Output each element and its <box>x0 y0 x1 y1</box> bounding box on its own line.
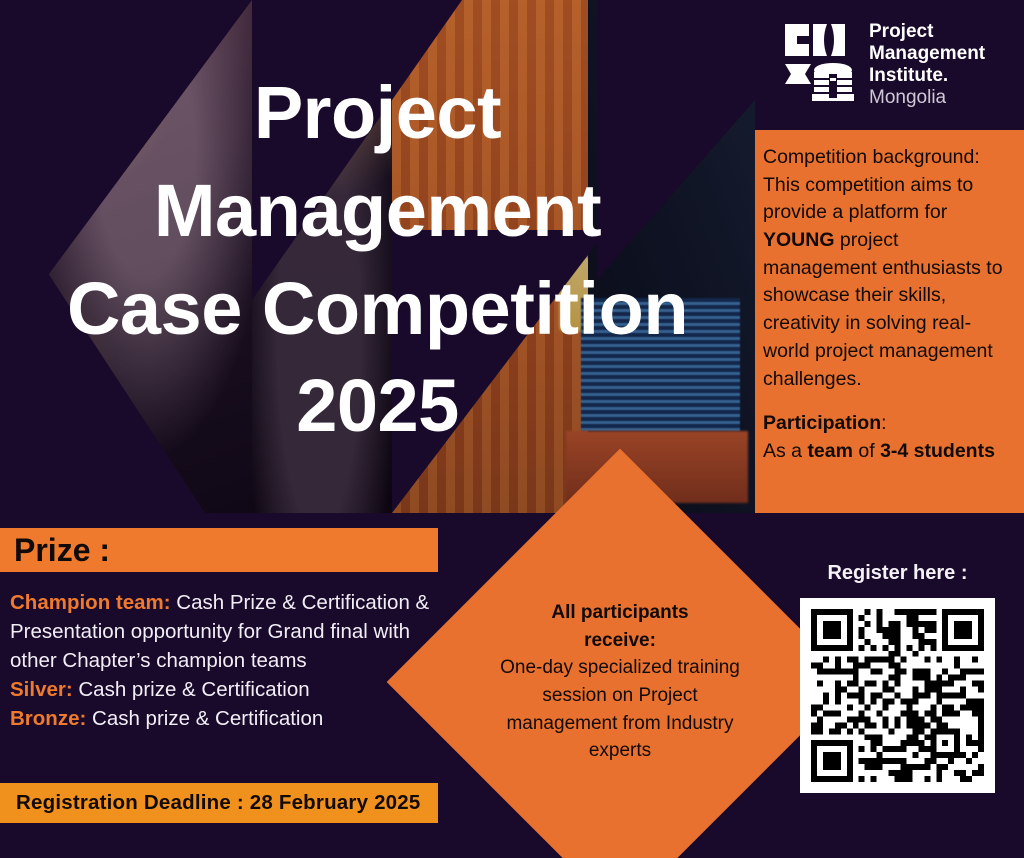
competition-background-panel: Competition background: This competition… <box>755 130 1024 513</box>
prize-champion-row: Champion team: Cash Prize & Certificatio… <box>10 588 460 675</box>
participation-bold-team: team <box>807 440 853 462</box>
participation-bold-students: 3-4 students <box>880 440 995 462</box>
logo-line-1: Project <box>869 21 985 43</box>
diamond-body: One-day specialized training session on … <box>493 654 747 765</box>
poster-title: Project Management Case Competition 2025 <box>0 0 755 513</box>
prize-header-bar: Prize : <box>0 528 438 572</box>
diamond-heading-line-2: receive: <box>584 627 656 655</box>
prize-header-label: Prize : <box>14 532 110 569</box>
prize-details: Champion team: Cash Prize & Certificatio… <box>10 588 460 734</box>
background-body-bold: YOUNG <box>763 229 835 251</box>
pmi-logo-block: Project Management Institute. Mongolia <box>755 0 1024 130</box>
qr-code-image <box>811 609 984 782</box>
background-body-after: project management enthusiasts to showca… <box>763 229 1003 389</box>
participation-prefix: As a <box>763 440 807 462</box>
title-line-3: Case Competition <box>67 260 688 358</box>
pmi-logo-icon <box>783 22 855 108</box>
pmi-logo-wordmark: Project Management Institute. Mongolia <box>869 21 985 109</box>
participation-heading: Participation <box>763 412 881 434</box>
background-body-before: This competition aims to provide a platf… <box>763 174 973 224</box>
logo-line-3: Institute. <box>869 65 985 87</box>
logo-line-2: Management <box>869 43 985 65</box>
poster-root: Project Management Case Competition 2025… <box>0 0 1024 858</box>
registration-qr-code[interactable] <box>800 598 995 793</box>
prize-bronze-label: Bronze: <box>10 707 86 730</box>
prize-silver-text: Cash prize & Certification <box>73 678 310 701</box>
diamond-heading-line-1: All participants <box>551 599 688 627</box>
prize-bronze-text: Cash prize & Certification <box>86 707 323 730</box>
title-line-4: 2025 <box>296 357 459 455</box>
background-panel-spacer <box>763 393 1016 410</box>
background-heading: Competition background: <box>763 146 980 168</box>
participants-receive-block: All participants receive: One-day specia… <box>455 517 785 847</box>
prize-silver-label: Silver: <box>10 678 73 701</box>
participation-mid: of <box>853 440 880 462</box>
prize-bronze-row: Bronze: Cash prize & Certification <box>10 704 460 733</box>
prize-champion-label: Champion team: <box>10 591 171 614</box>
register-here-label: Register here : <box>790 562 1005 585</box>
registration-deadline-label: Registration Deadline : 28 February 2025 <box>16 791 420 815</box>
logo-line-4: Mongolia <box>869 87 985 109</box>
title-line-1: Project <box>254 64 501 162</box>
title-line-2: Management <box>154 162 601 260</box>
participation-colon: : <box>881 412 886 434</box>
registration-deadline-bar: Registration Deadline : 28 February 2025 <box>0 783 438 823</box>
